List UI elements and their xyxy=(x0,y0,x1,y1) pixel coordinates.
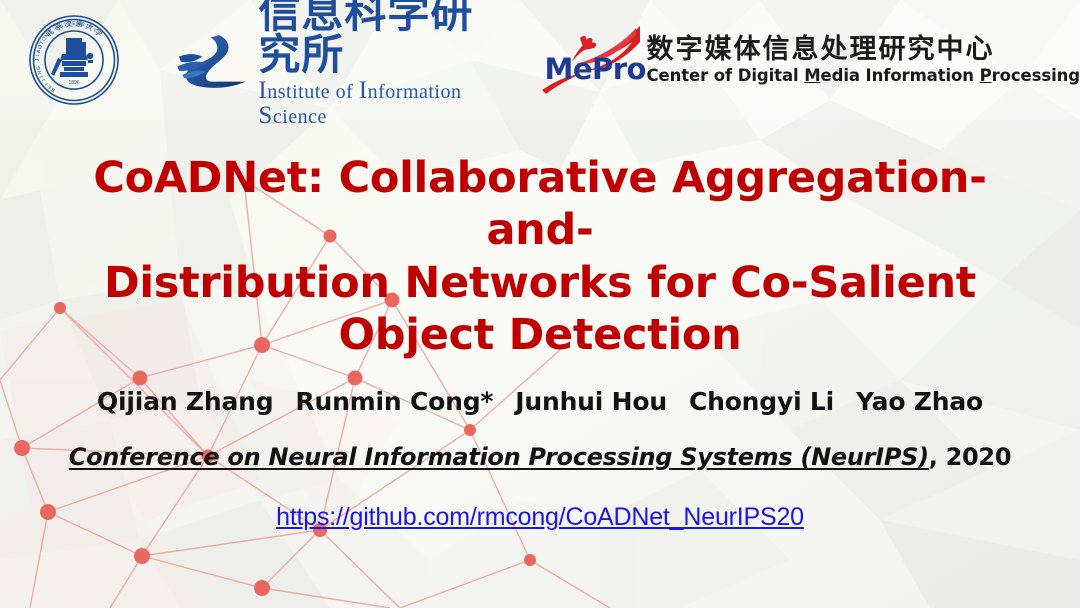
author-name: Junhui Hou xyxy=(515,387,667,416)
repo-link-container: https://github.com/rmcong/CoADNet_NeurIP… xyxy=(40,503,1040,532)
title-line-3: Object Detection xyxy=(60,309,1020,361)
author-name: Chongyi Li xyxy=(689,387,834,416)
title-line-2: Distribution Networks for Co-Salient xyxy=(60,257,1020,309)
presentation-slide: 北 京 交 通 大 学 B E I J I N G J I A xyxy=(0,0,1080,608)
venue-line: Conference on Neural Information Process… xyxy=(40,443,1040,471)
page-title: CoADNet: Collaborative Aggregation-and- … xyxy=(60,152,1020,362)
author-name: Qijian Zhang xyxy=(97,387,273,416)
venue-year: , 2020 xyxy=(929,443,1011,471)
venue-name: Conference on Neural Information Process… xyxy=(69,443,929,471)
slide-content: CoADNet: Collaborative Aggregation-and- … xyxy=(0,0,1080,608)
repository-link[interactable]: https://github.com/rmcong/CoADNet_NeurIP… xyxy=(276,503,804,531)
title-line-1: CoADNet: Collaborative Aggregation-and- xyxy=(60,152,1020,257)
author-list: Qijian ZhangRunmin Cong*Junhui HouChongy… xyxy=(40,387,1040,416)
author-name: Runmin Cong* xyxy=(295,387,493,416)
author-name: Yao Zhao xyxy=(856,387,983,416)
